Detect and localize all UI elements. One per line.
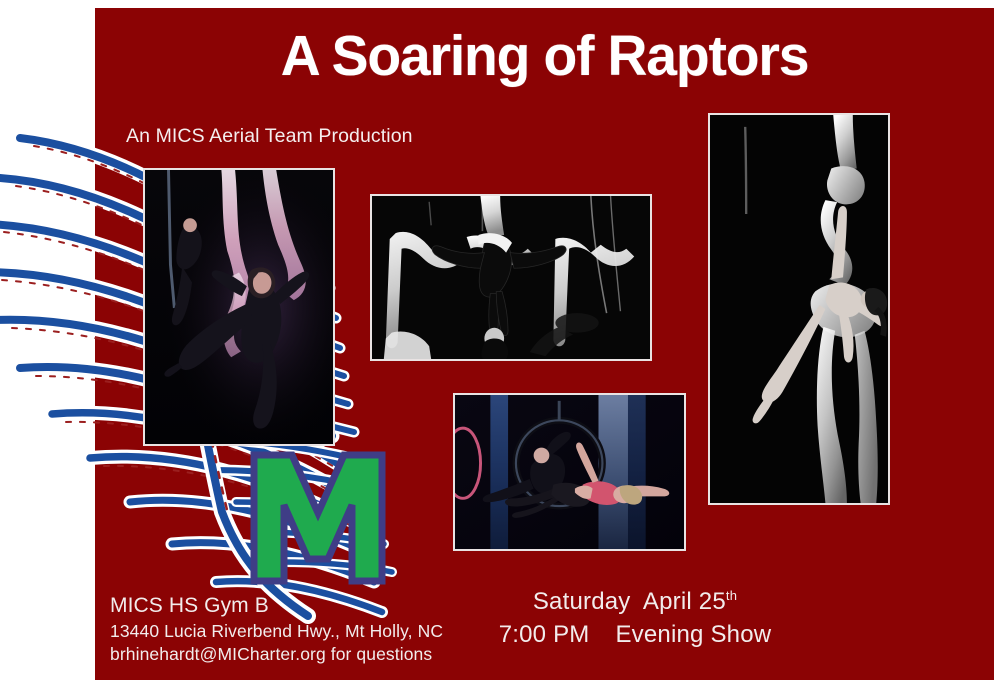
showtime-info: Saturday April 25th 7:00 PMEvening Show: [470, 586, 800, 651]
photo-aerial-silks-bw-tall: [708, 113, 890, 505]
photo-aerial-silks-purple: [143, 168, 335, 446]
photo-aerial-hoop-duo: [453, 393, 686, 551]
venue-address: 13440 Lucia Riverbend Hwy., Mt Holly, NC: [110, 620, 443, 643]
show-day: Saturday: [533, 588, 631, 615]
venue-contact-email: brhinehardt@MICharter.org for questions: [110, 643, 443, 666]
poster-canvas: A Soaring of Raptors An MICS Aerial Team…: [0, 0, 1000, 687]
show-time: 7:00 PM: [499, 621, 590, 648]
poster-subtitle: An MICS Aerial Team Production: [126, 125, 413, 148]
show-label: Evening Show: [615, 621, 771, 648]
show-month-day: April 25: [643, 588, 726, 615]
venue-name: MICS HS Gym B: [110, 592, 443, 620]
poster-title: A Soaring of Raptors: [108, 28, 980, 85]
mics-m-logo: [248, 447, 388, 589]
show-time-row: 7:00 PMEvening Show: [470, 619, 800, 652]
show-ordinal-suffix: th: [726, 588, 737, 603]
show-date: Saturday April 25th: [470, 586, 800, 619]
venue-info: MICS HS Gym B 13440 Lucia Riverbend Hwy.…: [110, 592, 443, 666]
photo-aerial-silks-bw-duo: [370, 194, 652, 361]
